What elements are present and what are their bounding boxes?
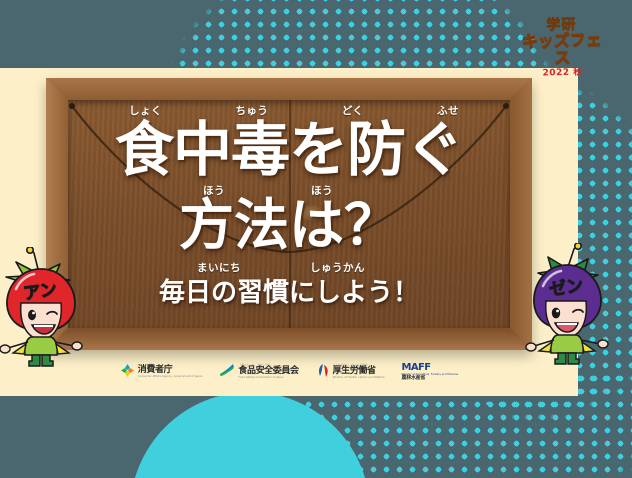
title-line-3: 毎日の習慣にしよう！ (159, 280, 419, 307)
sponsor-name-jp: 農林水産省 (402, 376, 459, 381)
furigana-shuukan: しゅうかん (310, 263, 365, 274)
sponsor-name-en: Ministry of Health, Labour and Welfare (333, 376, 385, 379)
mascot-tomato-an: アン (0, 247, 84, 369)
title-block: しょく ちゅう どく ふせ 食中毒を防ぐ ほう ほう 方法は？ まいにち しゅう… (46, 96, 532, 346)
event-logo: 学研 キッズフェス 2022 秋 (515, 17, 609, 79)
mhlw-icon (316, 363, 330, 382)
slide-stage: 学研 キッズフェス 2022 秋 しょく ちゅう どく ふせ 食中毒を防ぐ ほう… (0, 0, 632, 478)
sponsor-logo-mhlw: みんなで安心、みんなで健康 厚生労働省 Ministry of Health, … (316, 363, 385, 382)
event-logo-line-2: キッズフェス (516, 32, 609, 68)
sponsor-name-en: Food Safety Commission of Japan (238, 376, 298, 379)
maff-text: MAFF Ministry of Agriculture, Forestry a… (402, 363, 459, 381)
sponsor-logo-maff: MAFF Ministry of Agriculture, Forestry a… (402, 363, 459, 381)
consumer-affairs-agency-text: 消費者庁 Consumer Affairs Agency, Government… (138, 366, 203, 378)
sponsor-logo-food-safety-commission: 「食べる」を、安全に守る。 食品安全委員会 Food Safety Commis… (219, 363, 298, 382)
title-line-1: 食中毒を防ぐ (115, 120, 463, 180)
sponsor-name: MAFF (402, 363, 459, 373)
mascot-eggplant-zen: ゼン (522, 243, 610, 369)
food-safety-commission-text: 「食べる」を、安全に守る。 食品安全委員会 Food Safety Commis… (238, 365, 298, 379)
consumer-affairs-agency-icon (120, 363, 135, 382)
sponsor-name-en: Consumer Affairs Agency, Government of J… (138, 375, 203, 378)
furigana-row-3: まいにち しゅうかん (197, 263, 365, 274)
food-safety-commission-icon (219, 363, 235, 382)
mhlw-text: みんなで安心、みんなで健康 厚生労働省 Ministry of Health, … (333, 365, 385, 379)
sponsor-logo-bar: 消費者庁 Consumer Affairs Agency, Government… (46, 358, 532, 386)
furigana-mainichi: まいにち (197, 263, 241, 274)
sponsor-logo-consumer-affairs-agency: 消費者庁 Consumer Affairs Agency, Government… (120, 363, 203, 382)
title-line-2: 方法は？ (179, 197, 399, 253)
